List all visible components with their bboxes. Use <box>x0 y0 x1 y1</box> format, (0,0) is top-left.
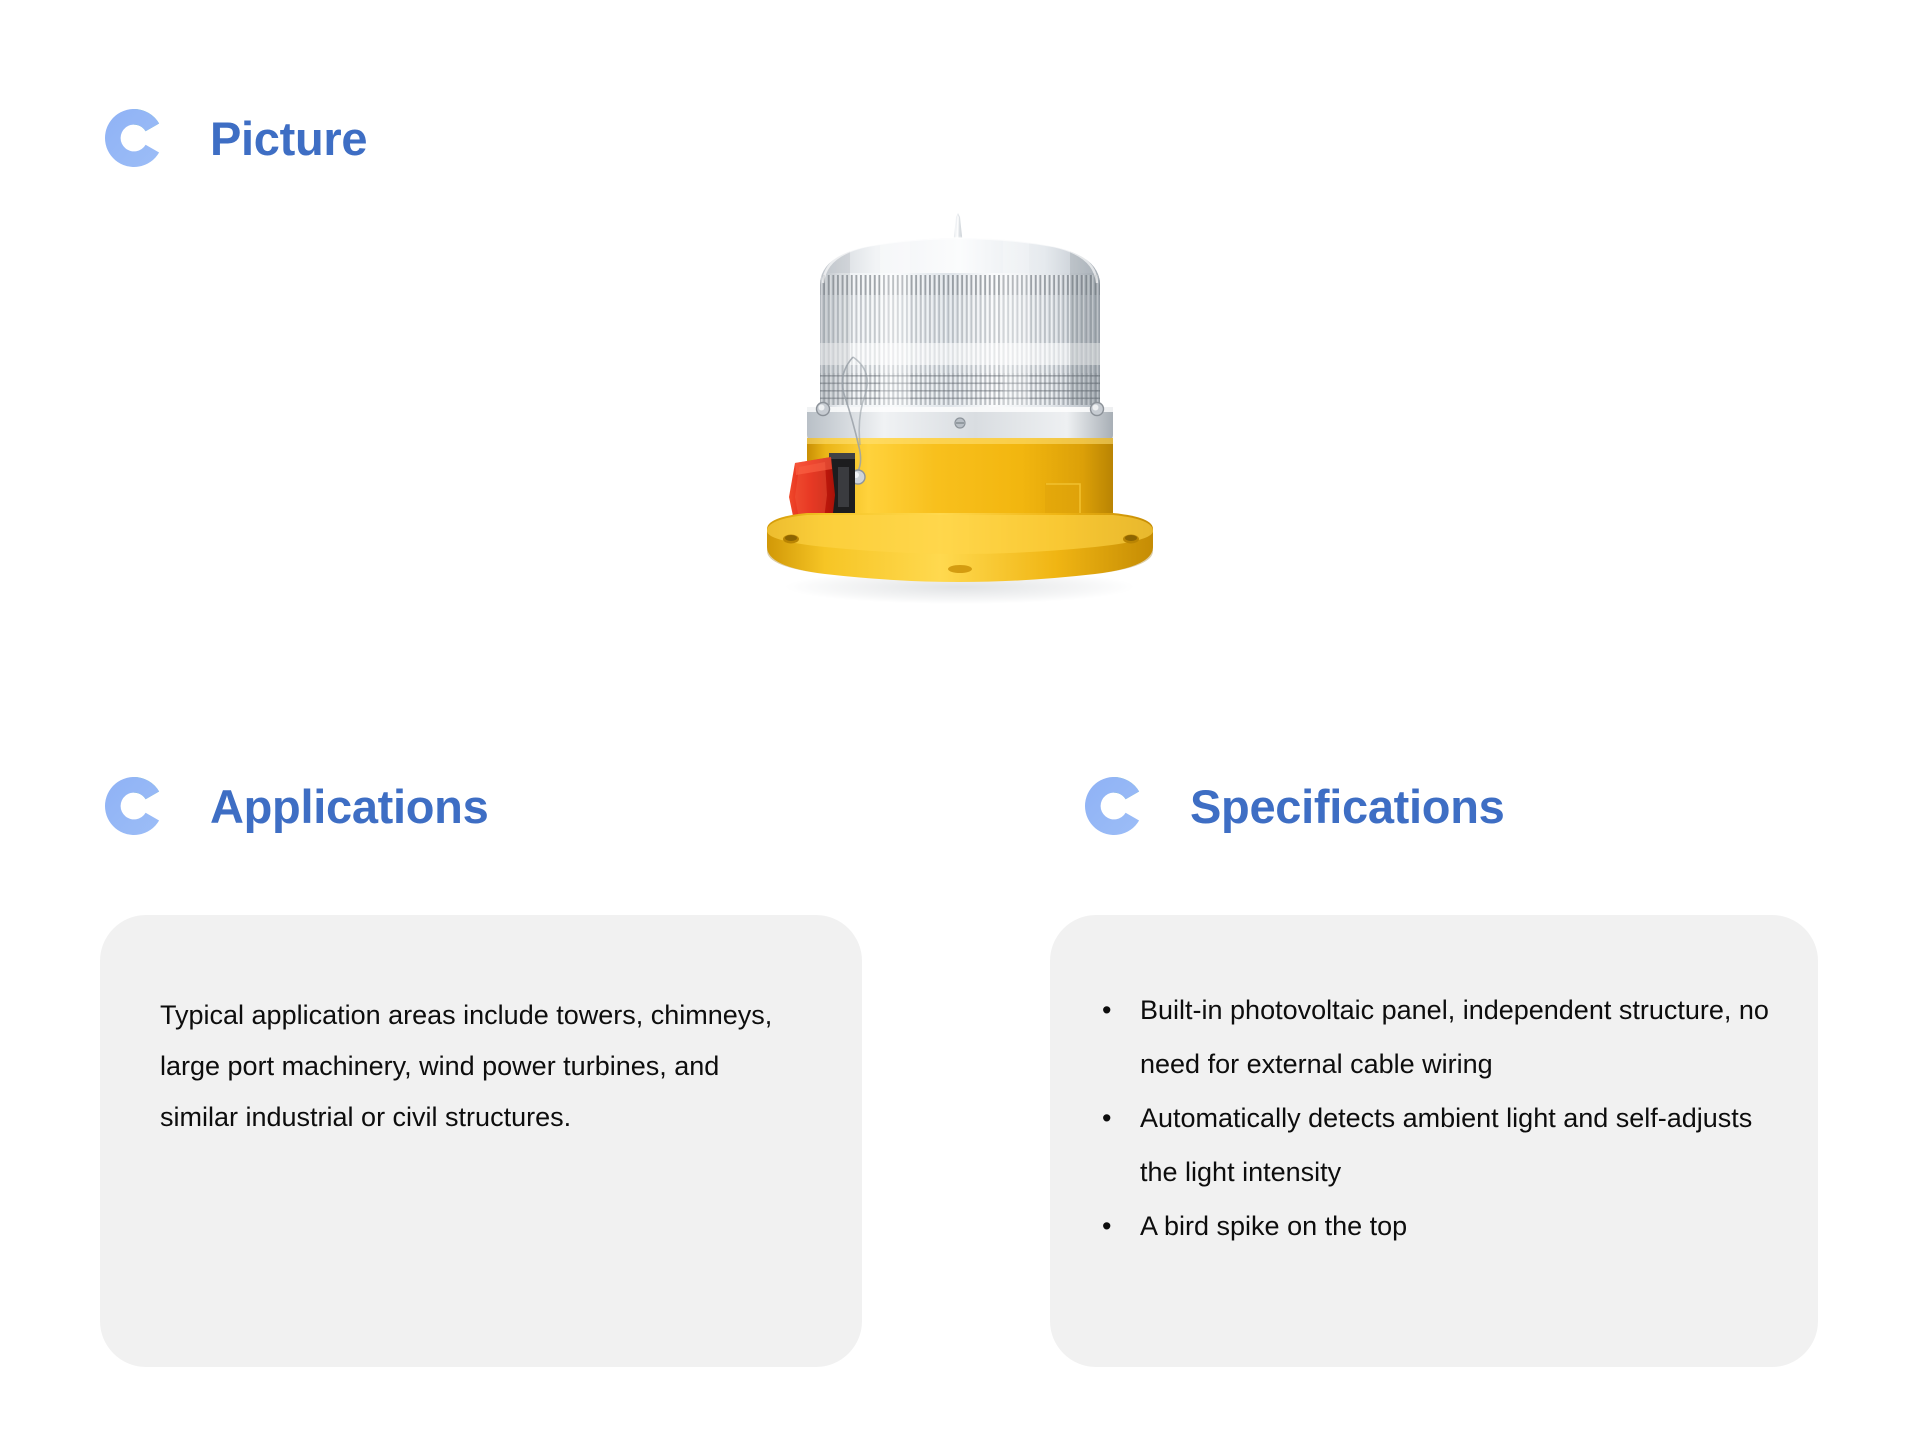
specifications-list: • Built-in photovoltaic panel, independe… <box>1096 983 1778 1253</box>
slide-root: Picture <box>0 0 1920 1440</box>
applications-text: Typical application areas include towers… <box>160 990 802 1143</box>
product-image-obstruction-light <box>745 195 1175 615</box>
section-header-picture: Picture <box>100 104 367 172</box>
list-item: • Automatically detects ambient light an… <box>1096 1091 1778 1199</box>
list-item-text: Automatically detects ambient light and … <box>1140 1103 1752 1187</box>
list-item-text: A bird spike on the top <box>1140 1211 1407 1241</box>
section-header-applications: Applications <box>100 772 488 840</box>
list-item-text: Built-in photovoltaic panel, independent… <box>1140 995 1769 1079</box>
applications-card-body: Typical application areas include towers… <box>100 915 862 1143</box>
brand-c-ring-icon <box>100 772 168 840</box>
specifications-card-body: • Built-in photovoltaic panel, independe… <box>1050 915 1818 1253</box>
list-item: • A bird spike on the top <box>1096 1199 1778 1253</box>
brand-c-ring-icon <box>1080 772 1148 840</box>
applications-title: Applications <box>210 783 488 830</box>
brand-c-ring-icon <box>100 104 168 172</box>
specifications-title: Specifications <box>1190 783 1504 830</box>
lens-dome <box>820 238 1100 407</box>
bullet-glyph: • <box>1102 1199 1111 1253</box>
applications-card: Typical application areas include towers… <box>100 915 862 1367</box>
section-header-specifications: Specifications <box>1080 772 1504 840</box>
mounting-flange <box>767 513 1153 582</box>
specifications-card: • Built-in photovoltaic panel, independe… <box>1050 915 1818 1367</box>
page-title: Picture <box>210 115 367 162</box>
bullet-glyph: • <box>1102 983 1111 1037</box>
list-item: • Built-in photovoltaic panel, independe… <box>1096 983 1778 1091</box>
bullet-glyph: • <box>1102 1091 1111 1145</box>
